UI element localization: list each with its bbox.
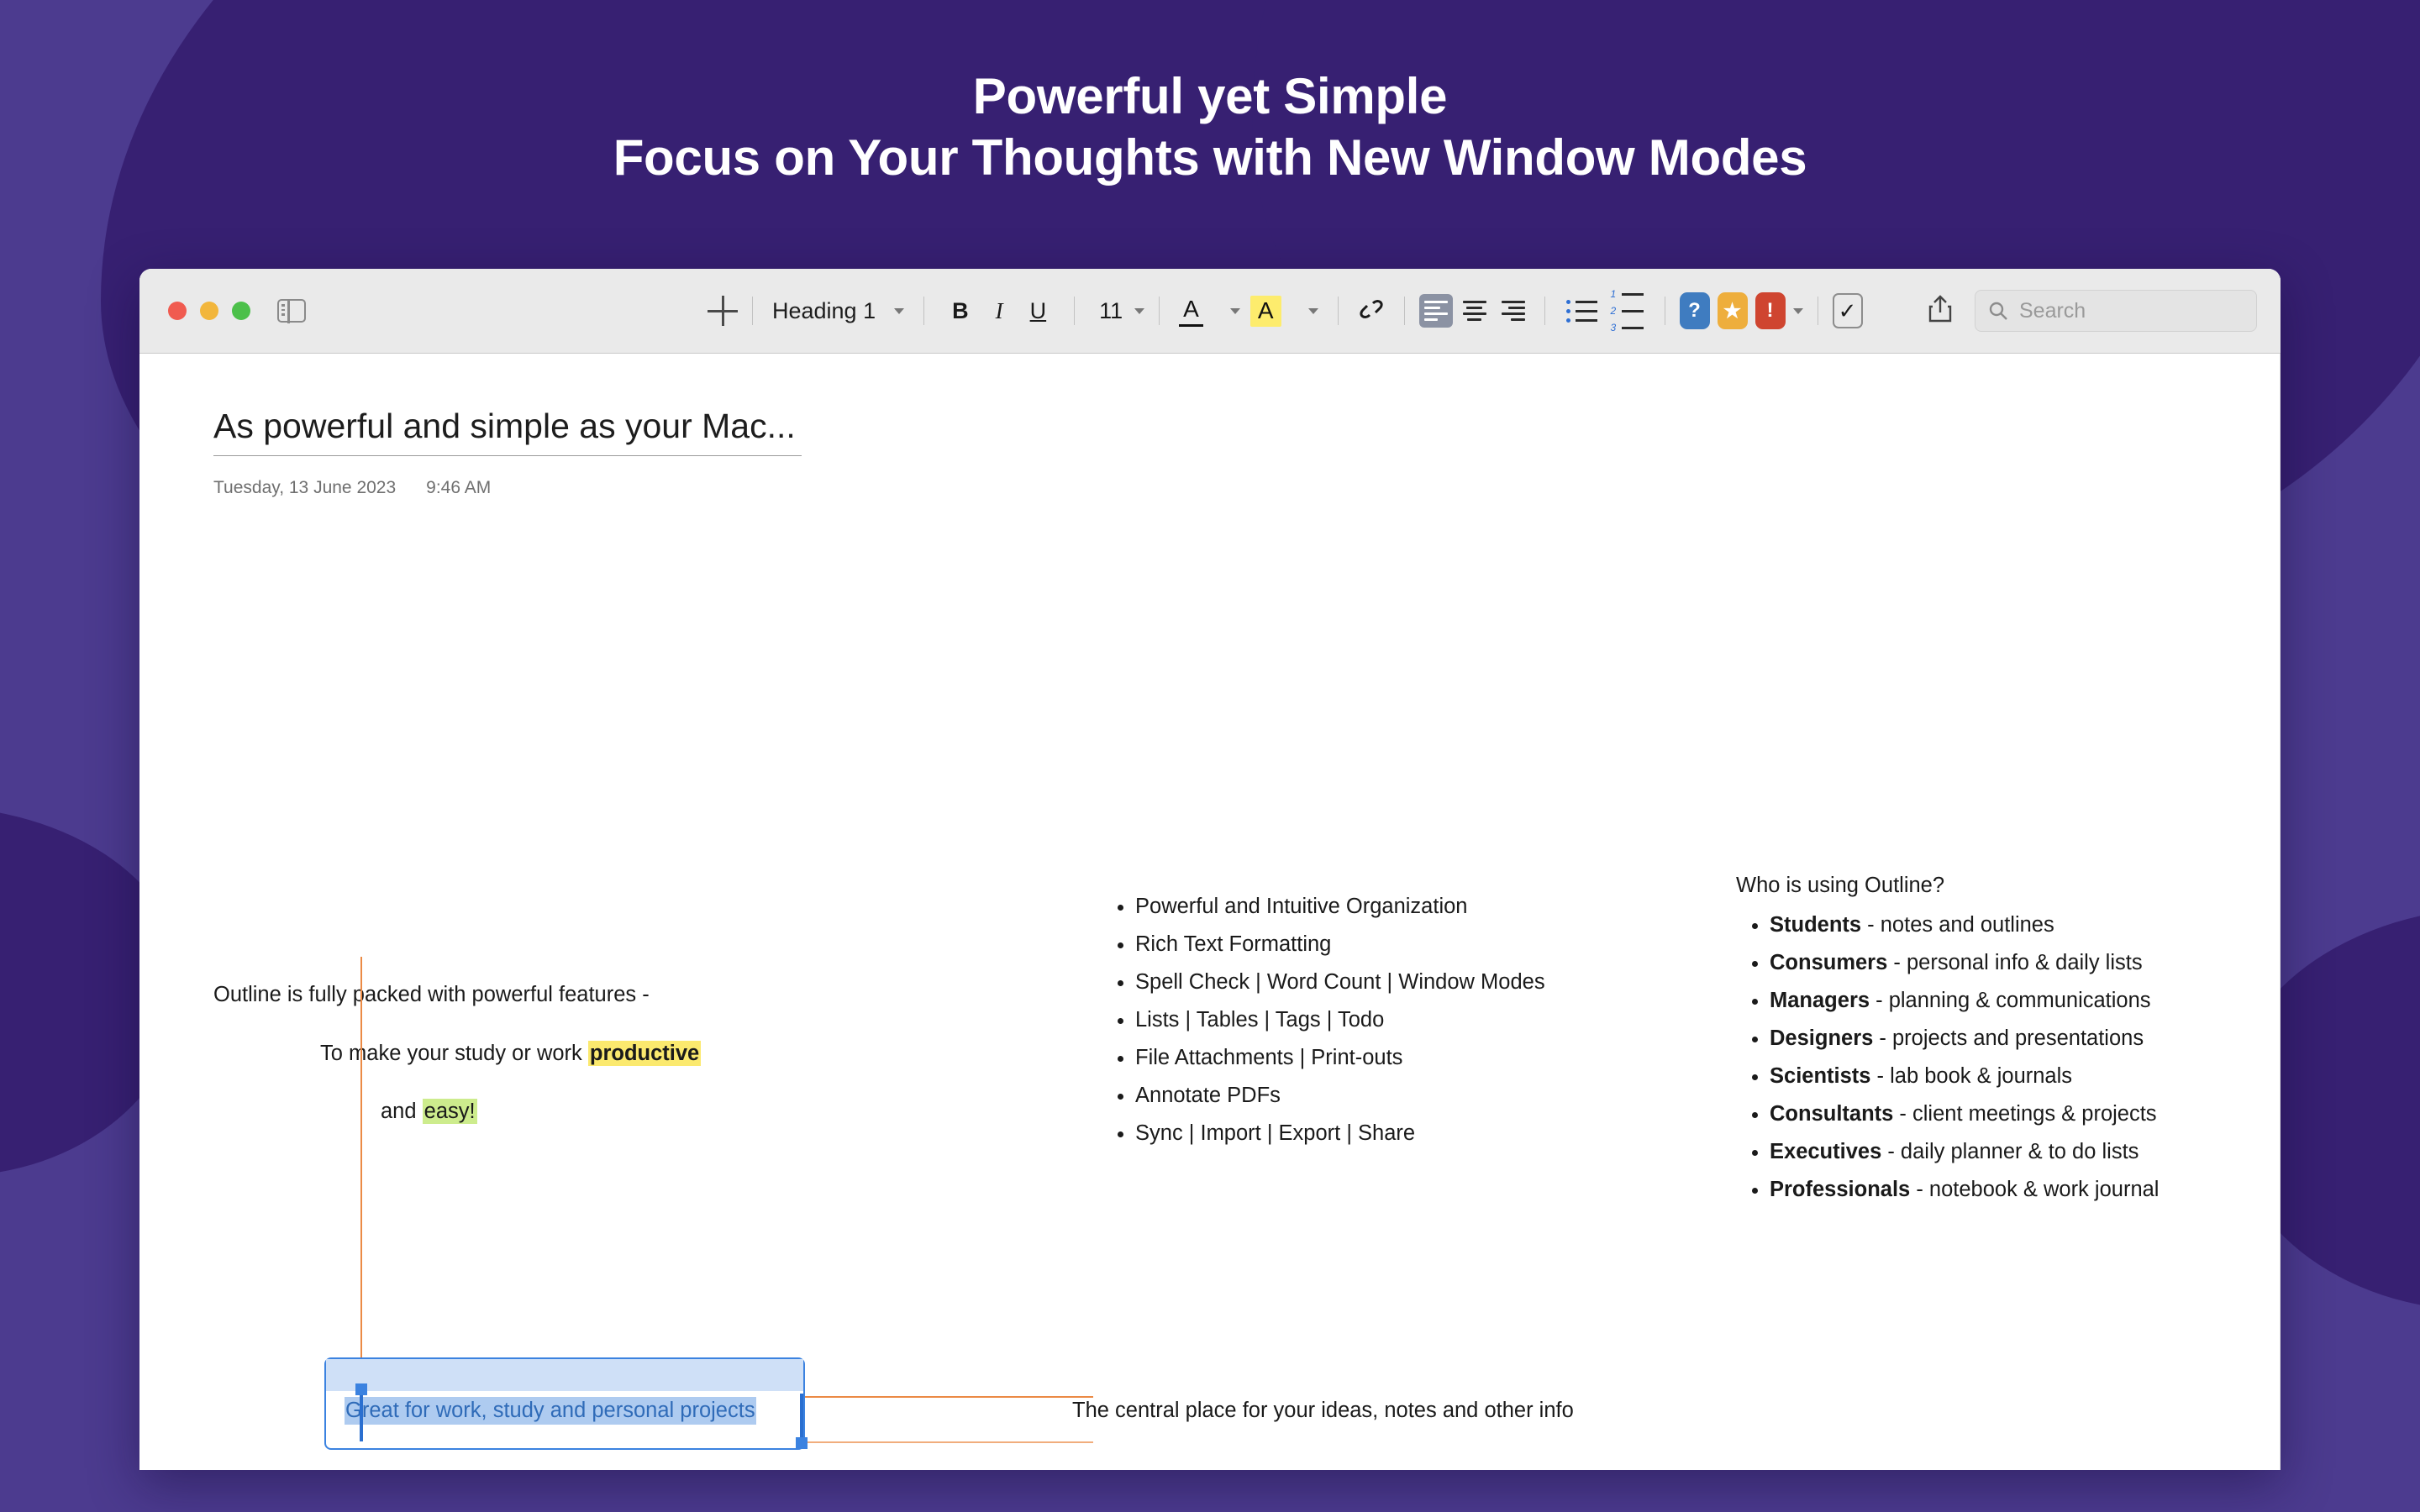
list-item: Rich Text Formatting xyxy=(1135,929,1545,960)
paragraph-style-value: Heading 1 xyxy=(772,298,876,324)
selection-end-caret xyxy=(800,1394,803,1441)
app-window: Heading 1 B I U 11 A A xyxy=(139,269,2281,1470)
chevron-down-icon xyxy=(1230,308,1240,314)
window-controls xyxy=(168,302,250,320)
toolbar-divider xyxy=(1159,297,1160,325)
list-item: Sync | Import | Export | Share xyxy=(1135,1118,1545,1149)
highlight-color-dropdown[interactable]: A xyxy=(1245,296,1323,327)
toolbar: Heading 1 B I U 11 A A xyxy=(139,269,2281,354)
document-canvas[interactable]: As powerful and simple as your Mac... Tu… xyxy=(139,354,2281,1470)
font-size-value: 11 xyxy=(1099,298,1123,324)
italic-button[interactable]: I xyxy=(982,298,1017,324)
search-icon xyxy=(1988,301,2008,321)
toolbar-divider xyxy=(923,297,924,325)
features-list: Powerful and Intuitive Organization Rich… xyxy=(1102,891,1545,1149)
search-input[interactable]: Search xyxy=(1975,290,2257,332)
page-meta: Tuesday, 13 June 2023 9:46 AM xyxy=(213,478,491,498)
numbered-list-icon: 1 2 3 xyxy=(1611,288,1644,333)
sidebar-toggle-icon[interactable] xyxy=(277,299,306,323)
toolbar-divider xyxy=(1818,297,1818,325)
align-right-button[interactable] xyxy=(1497,294,1530,328)
chevron-down-icon xyxy=(1134,308,1144,314)
paragraph-style-dropdown[interactable]: Heading 1 xyxy=(767,298,909,324)
insert-link-icon[interactable] xyxy=(1356,297,1386,326)
list-item: Designers - projects and presentations xyxy=(1770,1023,2159,1054)
user-role: Executives xyxy=(1770,1140,1881,1163)
list-item: Spell Check | Word Count | Window Modes xyxy=(1135,967,1545,998)
page-time: 9:46 AM xyxy=(426,478,491,498)
numbered-list-button[interactable]: 1 2 3 xyxy=(1611,288,1644,333)
alignment-group xyxy=(1419,294,1530,328)
bold-button[interactable]: B xyxy=(939,298,982,324)
users-list: Students - notes and outlines Consumers … xyxy=(1736,910,2159,1205)
tag-question-button[interactable]: ? xyxy=(1680,292,1710,329)
selection-start-caret xyxy=(360,1393,363,1441)
toolbar-divider xyxy=(1338,297,1339,325)
chevron-down-icon xyxy=(894,308,904,314)
users-block[interactable]: Who is using Outline? Students - notes a… xyxy=(1736,870,2159,1212)
bulleted-list-icon xyxy=(1566,300,1597,323)
intro-line-2-highlight: productive xyxy=(588,1041,701,1066)
tag-important-button[interactable]: ! xyxy=(1755,292,1786,329)
sidebar-lines-icon xyxy=(281,304,285,316)
chevron-down-icon[interactable] xyxy=(1793,308,1803,314)
list-item: Consumers - personal info & daily lists xyxy=(1770,948,2159,979)
user-desc: - projects and presentations xyxy=(1873,1026,2144,1050)
promo-background: Powerful yet Simple Focus on Your Though… xyxy=(0,0,2420,1512)
list-item: Managers - planning & communications xyxy=(1770,985,2159,1016)
text-color-icon: A xyxy=(1179,295,1203,327)
page-title[interactable]: As powerful and simple as your Mac... xyxy=(213,407,802,456)
user-role: Professionals xyxy=(1770,1178,1910,1201)
selection-handle-end[interactable] xyxy=(796,1437,808,1449)
chevron-down-icon xyxy=(1308,308,1318,314)
intro-line-3-prefix: and xyxy=(381,1100,423,1123)
vertical-alignment-guide xyxy=(360,957,362,1410)
promo-headline: Powerful yet Simple Focus on Your Though… xyxy=(0,66,2420,188)
highlight-color-icon: A xyxy=(1250,296,1281,327)
user-desc: - notebook & work journal xyxy=(1910,1178,2159,1201)
align-center-button[interactable] xyxy=(1458,294,1491,328)
list-item: Students - notes and outlines xyxy=(1770,910,2159,941)
tag-star-button[interactable]: ★ xyxy=(1718,292,1748,329)
list-item: Professionals - notebook & work journal xyxy=(1770,1174,2159,1205)
list-item: Executives - daily planner & to do lists xyxy=(1770,1137,2159,1168)
user-role: Scientists xyxy=(1770,1064,1870,1088)
intro-line-2[interactable]: To make your study or work productive xyxy=(320,1038,701,1069)
selected-text-box[interactable]: Great for work, study and personal proje… xyxy=(324,1357,805,1450)
share-icon[interactable] xyxy=(1928,295,1953,328)
font-size-dropdown[interactable]: 11 xyxy=(1089,298,1144,324)
toolbar-divider xyxy=(752,297,753,325)
toolbar-divider xyxy=(1074,297,1075,325)
list-item: Scientists - lab book & journals xyxy=(1770,1061,2159,1092)
list-item: File Attachments | Print-outs xyxy=(1135,1042,1545,1074)
underline-button[interactable]: U xyxy=(1017,298,1060,324)
user-desc: - notes and outlines xyxy=(1861,913,2054,937)
user-role: Managers xyxy=(1770,989,1870,1012)
user-desc: - lab book & journals xyxy=(1870,1064,2072,1088)
close-window-button[interactable] xyxy=(168,302,187,320)
add-note-button[interactable] xyxy=(708,296,738,326)
intro-line-3[interactable]: and easy! xyxy=(381,1096,477,1127)
toolbar-divider xyxy=(1404,297,1405,325)
toolbar-divider xyxy=(1544,297,1545,325)
intro-line-1[interactable]: Outline is fully packed with powerful fe… xyxy=(213,979,650,1011)
central-note-text[interactable]: The central place for your ideas, notes … xyxy=(1072,1395,1574,1426)
promo-headline-line-1: Powerful yet Simple xyxy=(0,66,2420,127)
user-desc: - planning & communications xyxy=(1870,989,2151,1012)
user-role: Consumers xyxy=(1770,951,1887,974)
list-item: Annotate PDFs xyxy=(1135,1080,1545,1111)
maximize-window-button[interactable] xyxy=(232,302,250,320)
promo-headline-line-2: Focus on Your Thoughts with New Window M… xyxy=(0,127,2420,188)
search-placeholder: Search xyxy=(2019,299,2086,323)
selection-handle-start[interactable] xyxy=(355,1383,367,1395)
users-heading: Who is using Outline? xyxy=(1736,870,2159,901)
page-date: Tuesday, 13 June 2023 xyxy=(213,478,396,498)
text-box-drag-handle[interactable] xyxy=(326,1359,803,1391)
user-role: Consultants xyxy=(1770,1102,1893,1126)
user-desc: - daily planner & to do lists xyxy=(1881,1140,2139,1163)
intro-line-3-highlight: easy! xyxy=(423,1099,477,1124)
user-role: Students xyxy=(1770,913,1861,937)
list-item: Powerful and Intuitive Organization xyxy=(1135,891,1545,922)
minimize-window-button[interactable] xyxy=(200,302,218,320)
user-role: Designers xyxy=(1770,1026,1873,1050)
list-item: Consultants - client meetings & projects xyxy=(1770,1099,2159,1130)
toolbar-divider xyxy=(1665,297,1665,325)
list-item: Lists | Tables | Tags | Todo xyxy=(1135,1005,1545,1036)
features-list-block[interactable]: Powerful and Intuitive Organization Rich… xyxy=(1102,891,1545,1156)
selected-text[interactable]: Great for work, study and personal proje… xyxy=(345,1397,756,1425)
toolbar-right-group: Search xyxy=(1928,290,2257,332)
text-color-dropdown[interactable]: A xyxy=(1174,295,1245,327)
todo-checkbox-button[interactable]: ✓ xyxy=(1833,293,1863,328)
bulleted-list-button[interactable] xyxy=(1566,300,1597,323)
user-desc: - client meetings & projects xyxy=(1893,1102,2156,1126)
user-desc: - personal info & daily lists xyxy=(1887,951,2142,974)
align-left-button[interactable] xyxy=(1419,294,1453,328)
